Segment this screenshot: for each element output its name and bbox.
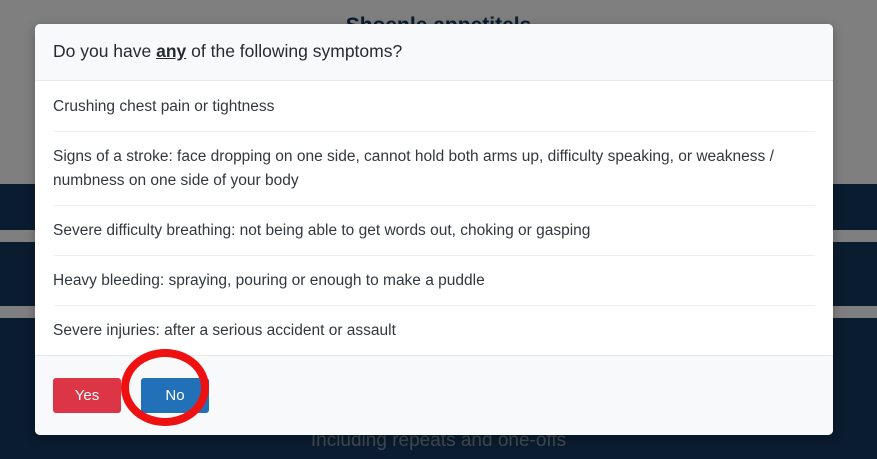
list-item: Severe difficulty breathing: not being a…: [53, 205, 815, 255]
symptom-list: Crushing chest pain or tightness Signs o…: [35, 81, 833, 355]
list-item: Heavy bleeding: spraying, pouring or eno…: [53, 255, 815, 305]
no-button[interactable]: No: [141, 378, 209, 413]
modal-title-prefix: Do you have: [53, 41, 156, 61]
modal-header: Do you have any of the following symptom…: [35, 24, 833, 81]
list-item: Severe injuries: after a serious acciden…: [53, 305, 815, 355]
modal-title: Do you have any of the following symptom…: [53, 40, 815, 63]
list-item: Signs of a stroke: face dropping on one …: [53, 131, 815, 205]
modal-footer: Yes No: [35, 355, 833, 435]
yes-button[interactable]: Yes: [53, 378, 121, 413]
modal-title-emphasis: any: [156, 41, 186, 61]
symptom-check-modal: Do you have any of the following symptom…: [35, 24, 833, 435]
modal-title-suffix: of the following symptoms?: [186, 41, 402, 61]
list-item: Crushing chest pain or tightness: [53, 81, 815, 131]
